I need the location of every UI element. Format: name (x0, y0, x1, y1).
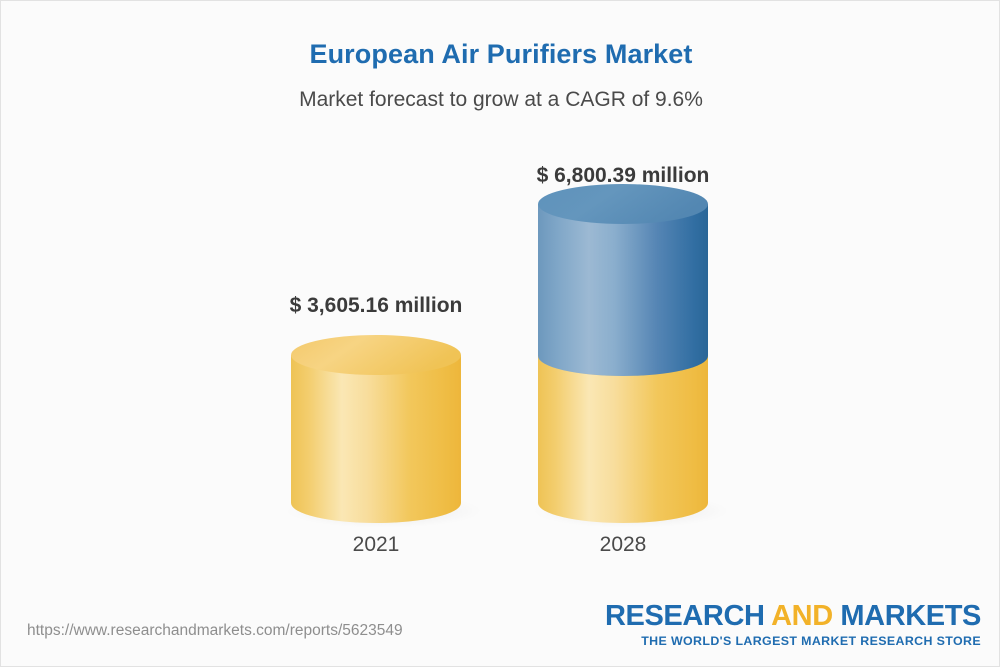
cylinder-2028[interactable] (503, 151, 743, 541)
chart-plot-area: $ 3,605.16 million (1, 1, 1000, 601)
cylinder-segment-base-2028 (538, 356, 708, 523)
brand-name: RESEARCH AND MARKETS (605, 601, 981, 631)
x-axis-label-2028: 2028 (503, 533, 743, 557)
cylinder-2021[interactable] (256, 151, 496, 541)
cylinder-segment-growth-2028 (538, 204, 708, 376)
cylinder-top-2028 (538, 184, 708, 224)
infographic-canvas: European Air Purifiers Market Market for… (0, 0, 1000, 667)
cylinder-top-2021 (291, 335, 461, 375)
brand-tagline: THE WORLD'S LARGEST MARKET RESEARCH STOR… (605, 634, 981, 648)
source-url[interactable]: https://www.researchandmarkets.com/repor… (27, 622, 403, 640)
x-axis-label-2021: 2021 (256, 533, 496, 557)
brand-name-research: RESEARCH (605, 600, 771, 632)
cylinder-body-2021 (291, 355, 461, 523)
brand-logo[interactable]: RESEARCH AND MARKETS THE WORLD'S LARGEST… (605, 601, 981, 648)
brand-name-and: AND (771, 600, 833, 632)
brand-name-markets: MARKETS (833, 600, 981, 632)
